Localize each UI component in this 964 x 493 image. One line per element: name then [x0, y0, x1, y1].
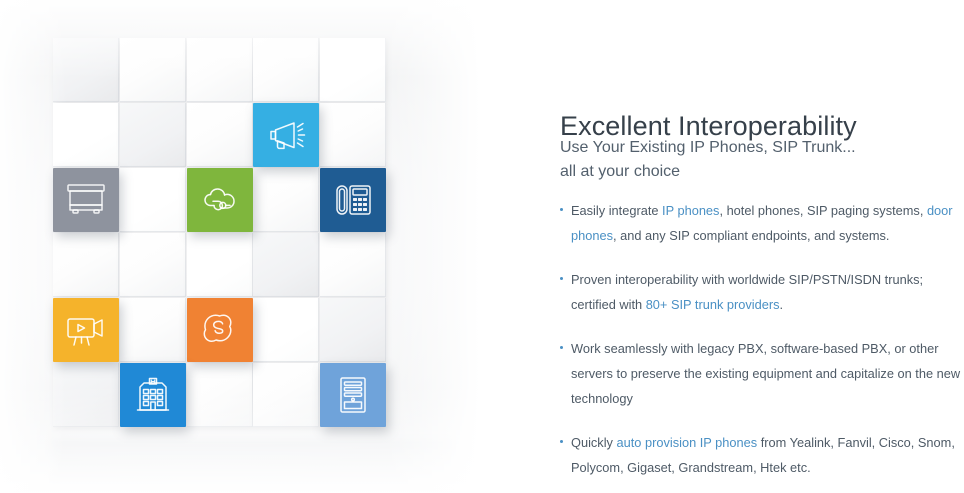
feature-bullet-list: Easily integrate IP phones, hotel phones… [560, 198, 964, 480]
mosaic-tile-blank [320, 233, 386, 297]
mosaic-tile-blank [53, 363, 119, 427]
list-item: Quickly auto provision IP phones from Ye… [560, 430, 964, 480]
hotel-building-icon [131, 373, 175, 417]
bullet-text: . [780, 297, 784, 312]
mosaic-tile-video-camera [53, 298, 119, 362]
mosaic-tile-blank [320, 298, 386, 362]
bullet-dot-icon [560, 346, 563, 349]
mosaic-tile-blank [120, 38, 186, 102]
mosaic-tile-blank [120, 298, 186, 362]
mosaic-tile-desk-phone [320, 168, 386, 232]
mosaic-tile-server-tower [320, 363, 386, 427]
mosaic-tile-projector-screen [53, 168, 119, 232]
mosaic-tile-blank [253, 298, 319, 362]
mosaic-tile-blank [320, 103, 386, 167]
tile-grid [53, 38, 454, 439]
mosaic-tile-blank [120, 103, 186, 167]
inline-link[interactable]: 80+ SIP trunk providers [646, 297, 780, 312]
list-item: Easily integrate IP phones, hotel phones… [560, 198, 964, 248]
subtitle-line-1: Use Your Existing IP Phones, SIP Trunk..… [560, 136, 964, 160]
bullet-text: Easily integrate [571, 203, 662, 218]
inline-link[interactable]: IP phones [662, 203, 719, 218]
mosaic-floor-reflection [53, 440, 454, 490]
desk-phone-icon [331, 180, 375, 220]
server-tower-icon [333, 373, 373, 417]
feature-text-panel: Excellent Interoperability Use Your Exis… [560, 0, 964, 493]
mosaic-tile-blank [320, 38, 386, 102]
mosaic-tile-skype [187, 298, 253, 362]
interoperability-feature-section: Excellent Interoperability Use Your Exis… [0, 0, 964, 493]
bullet-dot-icon [560, 208, 563, 211]
mosaic-tile-cloud-network [187, 168, 253, 232]
projector-screen-icon [63, 180, 109, 220]
list-item: Proven interoperability with worldwide S… [560, 267, 964, 317]
mosaic-tile-blank [253, 38, 319, 102]
bullet-text: , hotel phones, SIP paging systems, [719, 203, 926, 218]
mosaic-tile-blank [187, 103, 253, 167]
subtitle: Use Your Existing IP Phones, SIP Trunk..… [560, 136, 964, 184]
mosaic-tile-megaphone [253, 103, 319, 167]
mosaic-tile-blank [253, 168, 319, 232]
list-item: Work seamlessly with legacy PBX, softwar… [560, 336, 964, 411]
video-camera-icon [63, 310, 109, 350]
mosaic-tile-blank [253, 233, 319, 297]
bullet-text: , and any SIP compliant endpoints, and s… [613, 228, 889, 243]
subtitle-line-2: all at your choice [560, 160, 964, 184]
cloud-network-icon [197, 180, 243, 220]
inline-link[interactable]: auto provision IP phones [617, 435, 758, 450]
skype-icon [199, 309, 241, 351]
tile-mosaic-illustration [0, 0, 480, 493]
mosaic-tile-blank [53, 233, 119, 297]
mosaic-tile-hotel-building [120, 363, 186, 427]
mosaic-tile-blank [187, 38, 253, 102]
mosaic-tile-blank [187, 233, 253, 297]
bullet-dot-icon [560, 440, 563, 443]
megaphone-icon [264, 113, 308, 157]
mosaic-tile-blank [120, 168, 186, 232]
mosaic-tile-blank [253, 363, 319, 427]
bullet-text: Work seamlessly with legacy PBX, softwar… [571, 341, 960, 406]
mosaic-tile-blank [53, 103, 119, 167]
bullet-text: Quickly [571, 435, 617, 450]
bullet-dot-icon [560, 277, 563, 280]
mosaic-tile-blank [187, 363, 253, 427]
mosaic-tile-blank [120, 233, 186, 297]
mosaic-tile-blank [53, 38, 119, 102]
